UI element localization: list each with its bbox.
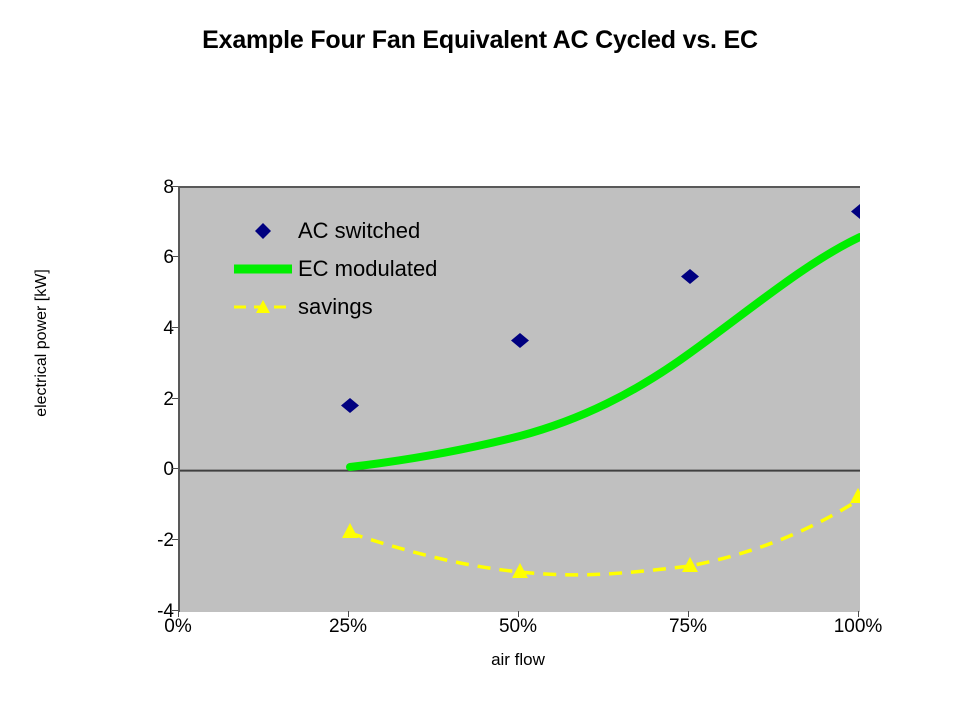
legend-item-savings: savings	[232, 288, 492, 326]
series-ac-switched-marker	[681, 269, 699, 284]
x-axis-label: air flow	[178, 650, 858, 670]
series-savings-marker	[682, 557, 698, 572]
x-tick-label-0: 0%	[133, 616, 223, 638]
y-axis-label: electrical power [kW]	[33, 243, 51, 443]
y-tick-label-0: 0	[128, 459, 174, 481]
solid-line-icon	[232, 250, 294, 288]
plot-area: AC switched EC modulated savings	[178, 186, 860, 612]
dashed-line-triangle-icon	[232, 288, 294, 326]
series-savings-line	[350, 499, 860, 575]
series-ac-switched-marker	[341, 398, 359, 413]
legend-key-diamond-icon	[232, 212, 294, 250]
y-tick-label-8: 8	[128, 177, 174, 199]
legend-label-savings: savings	[298, 294, 373, 320]
series-savings-marker	[342, 523, 358, 538]
series-savings-marker	[512, 563, 528, 578]
x-tick-label-100: 100%	[813, 616, 903, 638]
series-ac-switched-marker	[851, 204, 860, 219]
series-savings-marker	[850, 488, 860, 503]
legend-label-ac-switched: AC switched	[298, 218, 420, 244]
legend-item-ec-modulated: EC modulated	[232, 250, 492, 288]
chart-container: Example Four Fan Equivalent AC Cycled vs…	[0, 0, 960, 720]
legend-label-ec-modulated: EC modulated	[298, 256, 437, 282]
x-tick-label-75: 75%	[643, 616, 733, 638]
diamond-marker-icon	[232, 212, 294, 250]
chart-title: Example Four Fan Equivalent AC Cycled vs…	[0, 26, 960, 55]
x-tick-label-50: 50%	[473, 616, 563, 638]
x-tick-label-25: 25%	[303, 616, 393, 638]
y-tick-label-neg2: -2	[128, 530, 174, 552]
legend-key-dashed-line-icon	[232, 288, 294, 326]
y-tick-label-4: 4	[128, 318, 174, 340]
legend-item-ac-switched: AC switched	[232, 212, 492, 250]
legend-key-green-line-icon	[232, 250, 294, 288]
y-tick-label-6: 6	[128, 247, 174, 269]
y-tick-label-2: 2	[128, 389, 174, 411]
chart-legend: AC switched EC modulated savings	[232, 212, 492, 326]
series-ac-switched-marker	[511, 333, 529, 348]
